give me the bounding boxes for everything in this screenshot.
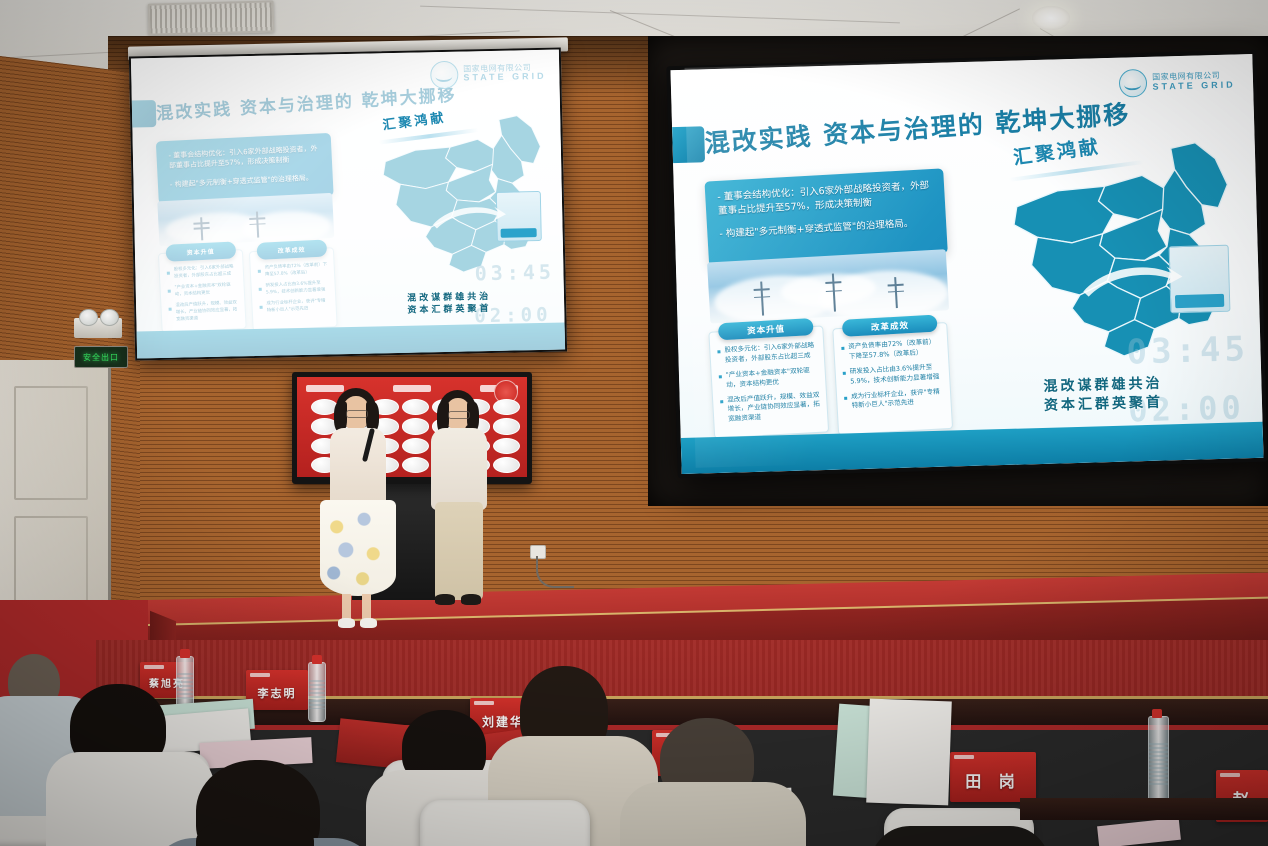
presenter-left	[316, 388, 396, 636]
chair-4	[420, 800, 590, 846]
state-grid-mark-icon-main	[1119, 69, 1148, 98]
presenter-right-shoe	[435, 594, 455, 605]
water-bottle-2	[308, 662, 326, 722]
presenter-right-trousers	[435, 502, 483, 600]
ceiling-air-vent	[148, 0, 275, 35]
slide-main: 混改实践 资本与治理的 乾坤大挪移 国家电网有限公司 STATE GRID - …	[670, 54, 1263, 474]
subcard-reform-main: 改革成效 资产负债率由72%（改革前）下降至57.8%（改革后） 研发投入占比由…	[832, 322, 953, 435]
subcard-reform-item-1-main: 资产负债率由72%（改革前）下降至57.8%（改革后）	[841, 337, 941, 362]
attendee-body-7	[870, 826, 1050, 846]
logo-en-text: STATE GRID	[463, 72, 546, 83]
subcard-capital-item-1-main: 股权多元化：引入6家外部战略投资者，外部股东占比超三成	[717, 340, 817, 365]
conference-room-photo: 安全出口 混改实践 资本与治理的 乾坤大挪移 国家电网有限公司 STATE GR…	[0, 0, 1268, 846]
slide-bullet-2-main: - 构建起"多元制衡+穿透式监管"的治理格局。	[719, 216, 934, 242]
presenter-right-glasses	[448, 411, 470, 419]
water-bottle-4	[1148, 716, 1169, 804]
desk-right-top	[1020, 798, 1268, 820]
attendee-body-2	[46, 752, 214, 846]
door-panel-upper	[14, 386, 88, 500]
subcard-reform-header: 改革成效	[256, 239, 327, 259]
subcard-capital-item-3-main: 混改后产值跃升，规模、效益双增长，产业链协同效应显著，拓宽融资渠道	[720, 390, 821, 425]
slide-bullet-1: - 董事会结构优化：引入6家外部战略投资者，外部董事占比提升至57%，形成决策制…	[168, 143, 320, 171]
transmission-tower-photo	[157, 193, 334, 247]
map-arrow-swoosh-main	[1079, 256, 1185, 302]
attendee-body-6	[620, 782, 806, 846]
placard-2: 李志明	[246, 670, 308, 710]
projection-screen-left: 混改实践 资本与治理的 乾坤大挪移 国家电网有限公司 STATE GRID - …	[129, 48, 567, 361]
subcard-reform-item-3: 成为行业标杆企业，获评"专精特新小巨人"示范先进	[259, 298, 329, 315]
state-grid-logo: 国家电网有限公司 STATE GRID	[430, 59, 547, 89]
emergency-exit-sign: 安全出口	[74, 346, 128, 368]
presenter-left-blouse	[330, 428, 386, 506]
led-screen-surface: 混改实践 资本与治理的 乾坤大挪移 国家电网有限公司 STATE GRID - …	[670, 54, 1263, 474]
subcard-capital-main: 资本升值 股权多元化：引入6家外部战略投资者，外部股东占比超三成 "产业资本+金…	[708, 325, 829, 438]
led-video-wall: 混改实践 资本与治理的 乾坤大挪移 国家电网有限公司 STATE GRID - …	[666, 50, 1267, 478]
overlay-line-2: 资本汇群英聚首	[407, 303, 491, 317]
subcard-capital-item-3: 混改后产值跃升，规模、效益双增长，产业链协同效应显著，拓宽融资渠道	[168, 300, 238, 323]
subcard-reform-item-2-main: 研发投入占比由3.6%提升至5.9%，技术创新能力显著增强	[842, 362, 942, 387]
subcard-capital-item-2-main: "产业资本+金融资本"双轮驱动，资本结构更优	[719, 365, 819, 390]
paper-pink-2	[1097, 818, 1181, 846]
emergency-light	[74, 318, 122, 338]
presenter-right-top	[431, 428, 487, 510]
slide-bullet-1-main: - 董事会结构优化：引入6家外部战略投资者，外部董事占比提升至57%，形成决策制…	[717, 179, 933, 218]
slide-left-copy: 混改实践 资本与治理的 乾坤大挪移 国家电网有限公司 STATE GRID - …	[131, 50, 565, 359]
ceiling-downlight	[1032, 6, 1070, 30]
subcard-capital: 资本升值 股权多元化：引入6家外部战略投资者，外部股东占比超三成 "产业资本+金…	[157, 249, 246, 333]
ghost-timer-1: 03:45	[474, 260, 555, 286]
slide-overlay-text-main: 混改谋群雄共治 资本汇群英聚首	[1043, 374, 1163, 415]
logo-en-text-main: STATE GRID	[1152, 80, 1235, 92]
power-cable	[536, 556, 574, 588]
ghost-timer-1-main: 03:45	[1126, 329, 1249, 372]
audience-area: 蔡旭亮 李志明 刘建华 安连琴 田 岗 赵	[0, 640, 1268, 846]
state-grid-mark-icon	[430, 61, 459, 90]
slide-corner-tab-main	[672, 126, 705, 163]
slide-overlay-text: 混改谋群雄共治 资本汇群英聚首	[407, 291, 492, 317]
presenter-left-floral-skirt	[320, 500, 396, 596]
subcard-reform: 改革成效 资产负债率由72%（改革前）下降至57.8%（改革后） 研发投入占比由…	[249, 247, 338, 331]
slide-corner-tab	[132, 100, 156, 127]
map-arrow-swoosh	[430, 200, 508, 233]
subcard-capital-item-1: 股权多元化：引入6家外部战略投资者，外部股东占比超三成	[166, 264, 236, 281]
presenter-left-shoe	[338, 618, 355, 628]
subcard-capital-header: 资本升值	[165, 241, 236, 261]
exit-sign-label: 安全出口	[83, 352, 119, 363]
subcard-reform-item-1: 资产负债率由72%（改革前）下降至57.8%（改革后）	[257, 262, 327, 279]
state-grid-logo-main: 国家电网有限公司 STATE GRID	[1119, 67, 1236, 98]
paper-2	[866, 699, 952, 806]
transmission-tower-photo-main	[707, 249, 949, 323]
subcard-reform-item-2: 研发投入占比由3.6%提升至5.9%，技术创新能力显著增强	[258, 280, 328, 297]
presenter-left-glasses	[346, 410, 368, 418]
overlay-line-2-main: 资本汇群英聚首	[1044, 393, 1163, 415]
subcard-capital-item-2: "产业资本+金融资本"双轮驱动，资本结构更优	[167, 282, 237, 299]
presenter-right	[425, 390, 497, 620]
placard-5: 田 岗	[950, 752, 1036, 802]
subcard-reform-item-3-main: 成为行业标杆企业，获评"专精特新小巨人"示范先进	[844, 386, 944, 411]
slide-bullet-2: - 构建起"多元制衡+穿透式监管"的治理格局。	[169, 173, 321, 191]
